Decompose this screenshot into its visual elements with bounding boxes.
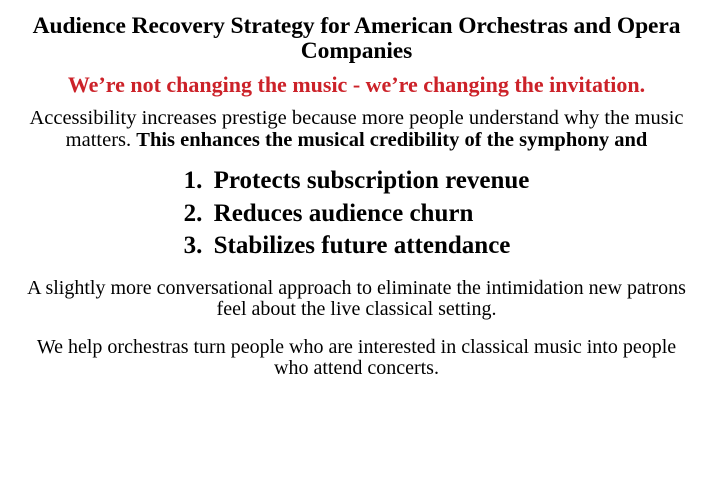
slide-subtitle: We’re not changing the music - we’re cha…	[38, 73, 675, 97]
list-item: 1.Protects subscription revenue	[184, 165, 530, 198]
list-item-label: Stabilizes future attendance	[214, 232, 511, 259]
closing-paragraph-second: We help orchestras turn people who are i…	[18, 337, 695, 379]
lead-paragraph: Accessibility increases prestige because…	[20, 108, 693, 151]
list-item-number: 2.	[184, 198, 214, 231]
list-item-number: 3.	[184, 230, 214, 263]
numbered-points-inner: 1.Protects subscription revenue 2.Reduce…	[184, 165, 530, 263]
list-item: 2.Reduces audience churn	[184, 198, 530, 231]
list-item-label: Protects subscription revenue	[214, 167, 530, 194]
closing-paragraph-first: A slightly more conversational approach …	[18, 278, 695, 320]
list-item: 3.Stabilizes future attendance	[184, 230, 530, 263]
list-item-number: 1.	[184, 165, 214, 198]
list-item-label: Reduces audience churn	[214, 200, 474, 227]
slide-canvas: Audience Recovery Strategy for American …	[0, 0, 713, 495]
numbered-points-list: 1.Protects subscription revenue 2.Reduce…	[10, 165, 703, 263]
slide-title: Audience Recovery Strategy for American …	[24, 14, 689, 64]
lead-bold-text: This enhances the musical credibility of…	[136, 129, 647, 151]
